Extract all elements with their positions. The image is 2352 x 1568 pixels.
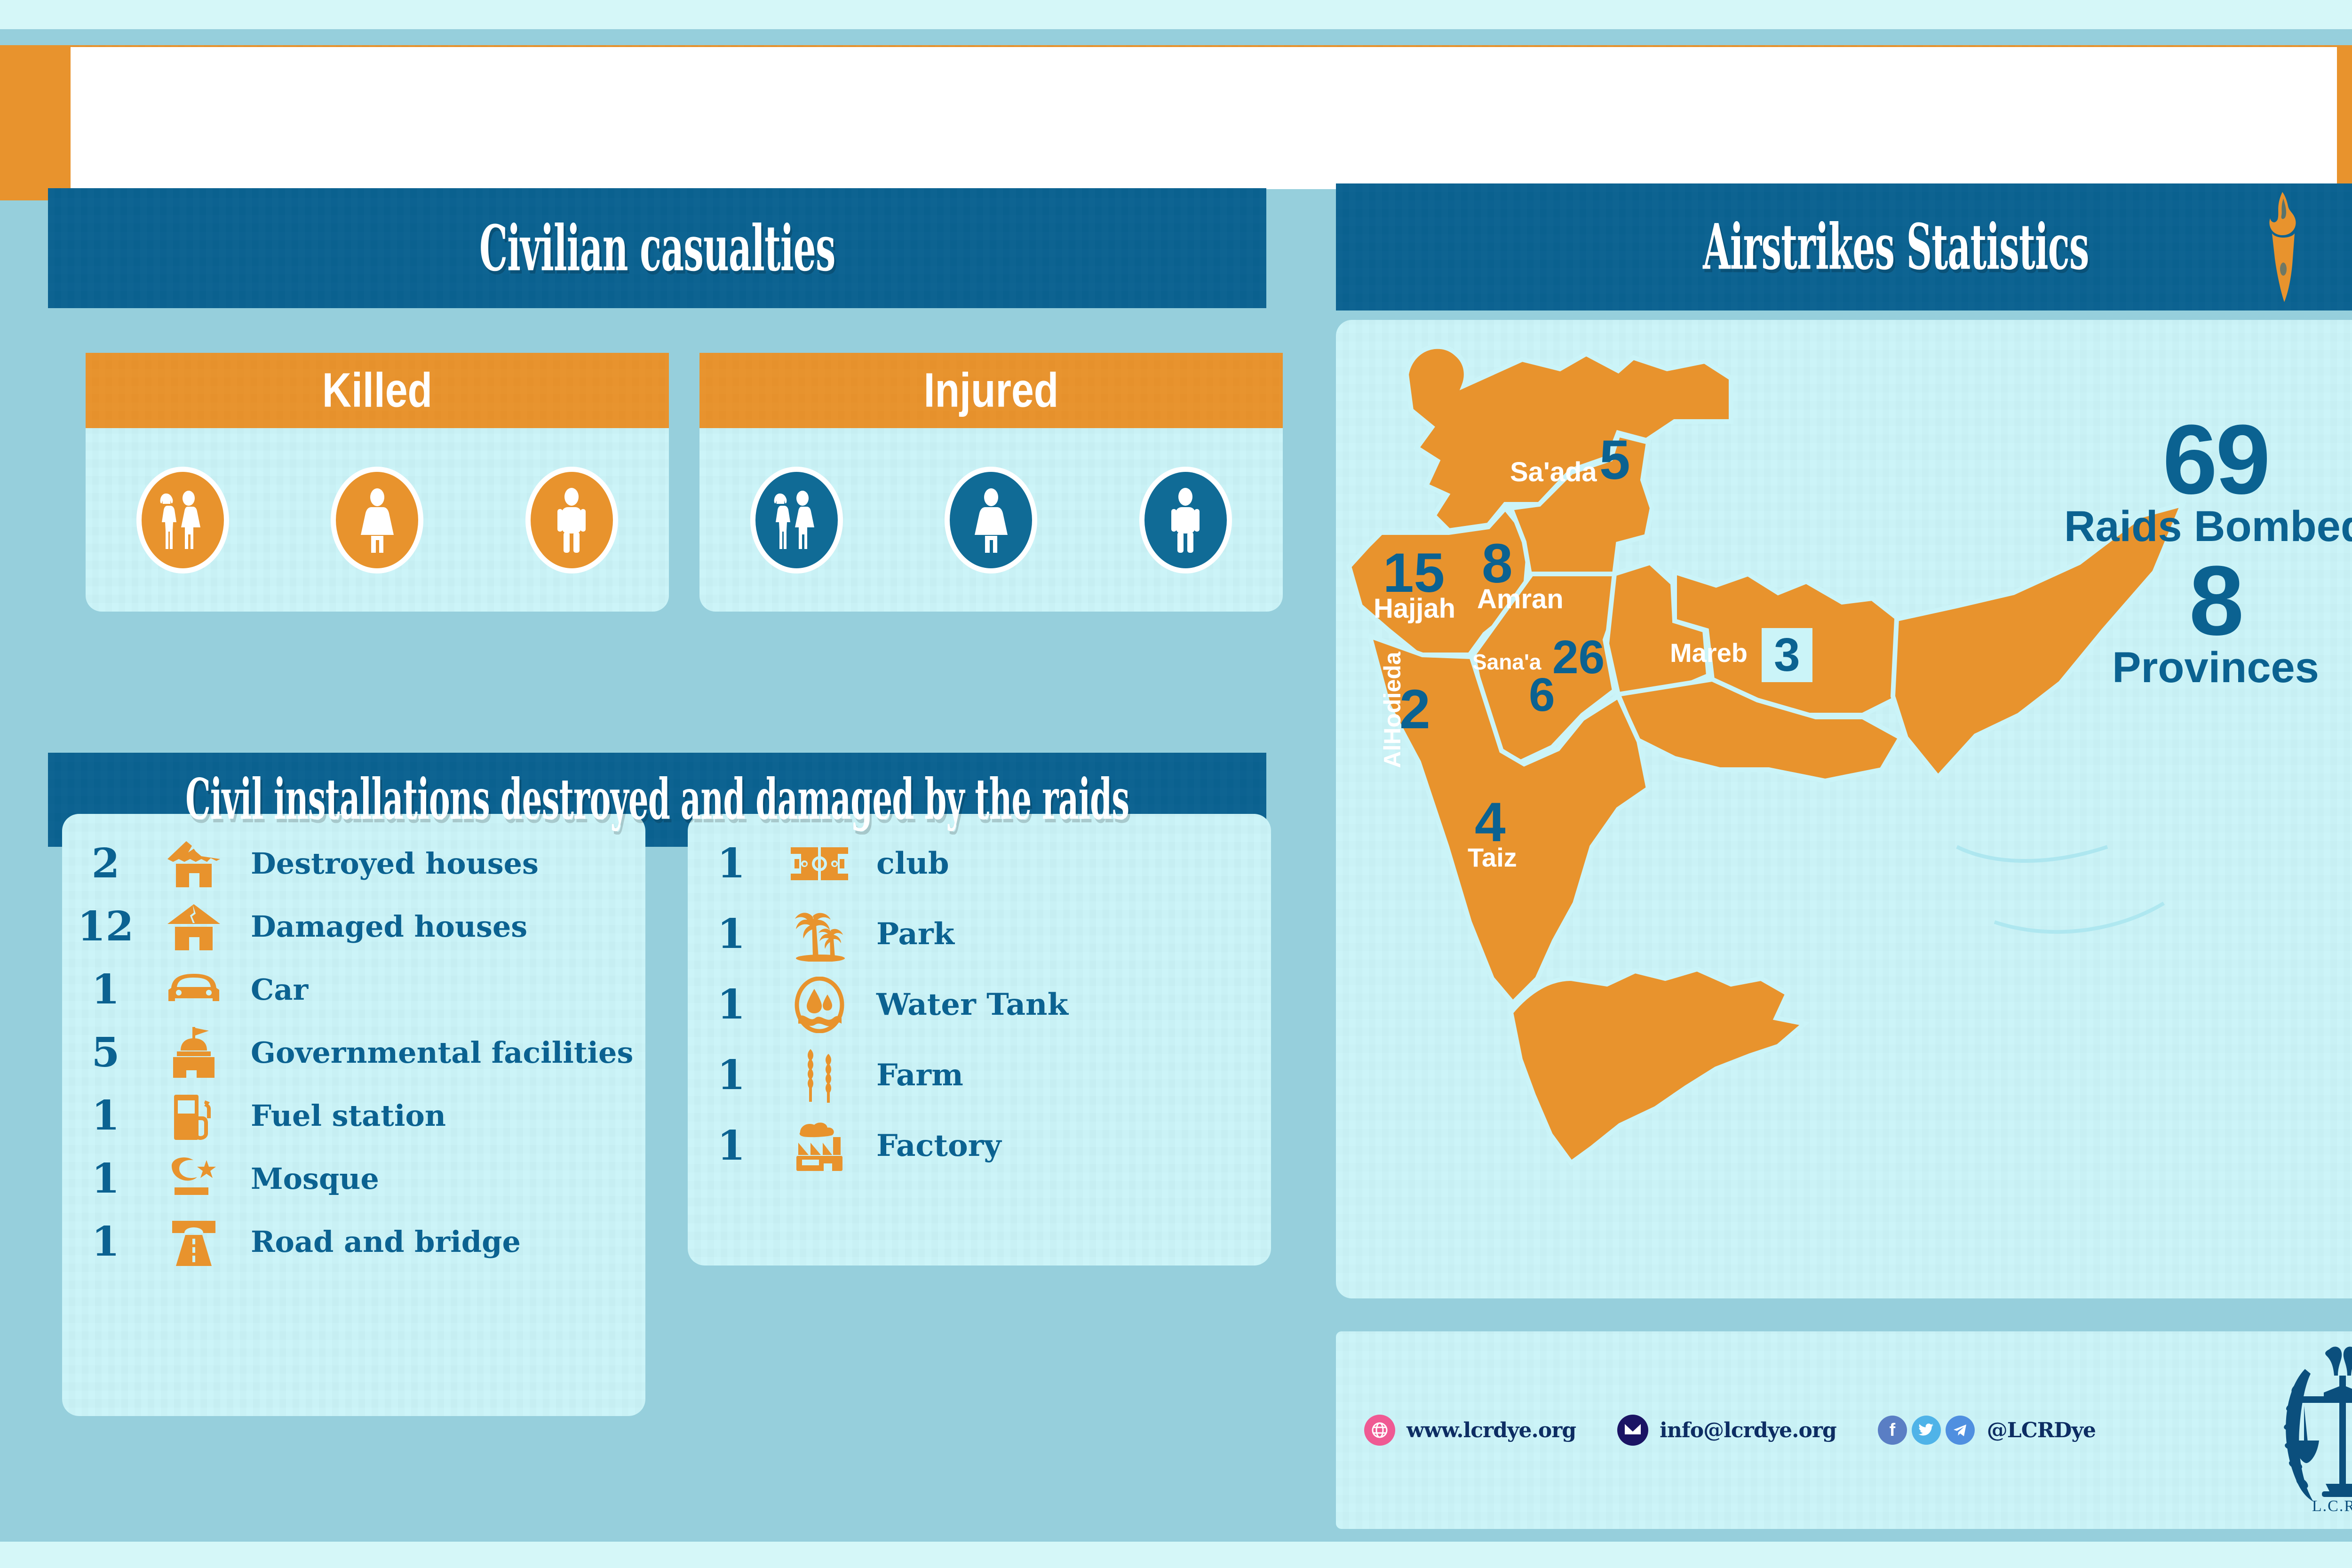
provinces-number: 8	[2037, 555, 2352, 646]
injured-icons	[699, 428, 1283, 612]
region-taiz	[1511, 969, 1804, 1163]
factory-icon	[775, 1116, 864, 1176]
woman-icon	[336, 472, 418, 568]
contact-footer: www.lcrdye.org info@lcrdye.org f	[1336, 1331, 2352, 1529]
children-pair-icon	[755, 472, 838, 568]
website-item[interactable]: www.lcrdye.org	[1364, 1415, 1576, 1446]
left-column: Civilian casualties Killed	[34, 188, 1266, 1543]
map-value-mareb: 3	[1762, 628, 1812, 682]
provinces-label: Provinces	[2037, 646, 2352, 689]
children-pair-icon	[142, 472, 224, 568]
map-value-amran: 8	[1482, 532, 1513, 596]
man-icon	[531, 472, 613, 568]
list-item: 1 Factory	[688, 1116, 1271, 1176]
raids-bombed-stat: 69 Raids Bombed	[2037, 414, 2352, 548]
car-icon	[149, 960, 238, 1020]
list-item: 5 Governmental facilities	[62, 1023, 645, 1083]
item-label: Water Tank	[864, 989, 1068, 1020]
list-item: 1	[688, 834, 1271, 894]
email-text: info@lcrdye.org	[1660, 1418, 1836, 1442]
social-item[interactable]: f @LCRDye	[1878, 1416, 2096, 1445]
item-label: Fuel station	[238, 1101, 446, 1130]
item-label: Road and bridge	[238, 1227, 521, 1257]
item-count: 1	[688, 844, 775, 884]
list-item: 1 Car	[62, 960, 645, 1020]
map-label-saada: Sa'ada	[1510, 456, 1597, 488]
wheat-farm-icon	[775, 1045, 864, 1106]
fuel-pump-icon	[149, 1086, 238, 1146]
item-label: Destroyed houses	[238, 849, 539, 878]
provinces-stat: 8 Provinces	[2037, 555, 2352, 689]
mosque-crescent-star-icon	[149, 1149, 238, 1209]
injured-card: Injured	[699, 353, 1283, 616]
killed-icons	[86, 428, 669, 612]
civilian-casualties-title: Civilian casualties	[479, 211, 835, 285]
item-count: 1	[688, 985, 775, 1025]
map-value-taiz: 4	[1475, 790, 1506, 854]
item-count: 1	[688, 914, 775, 955]
map-value-hajjah: 15	[1383, 541, 1445, 605]
item-count: 1	[62, 1096, 149, 1136]
list-item: 1 Road and bridge	[62, 1212, 645, 1272]
map-value-alhodieda: 2	[1399, 677, 1430, 741]
infographic-frame: Civilian casualties Killed	[0, 0, 2352, 1568]
lcrd-scales-of-justice-logo: L.C.R.D	[2249, 1336, 2352, 1524]
item-count: 1	[688, 1055, 775, 1096]
sports-field-icon	[775, 834, 864, 894]
item-label: Farm	[864, 1060, 963, 1090]
torch-flame-icon	[2253, 190, 2314, 303]
item-label: Mosque	[238, 1164, 379, 1194]
item-label: Governmental facilities	[238, 1038, 633, 1067]
facebook-icon[interactable]: f	[1878, 1416, 1907, 1445]
top-orange-left-edge	[0, 45, 71, 200]
killed-card: Killed	[86, 353, 669, 616]
airstrikes-statistics-header: Airstrikes Statistics	[1336, 183, 2352, 310]
map-value-saada: 5	[1599, 428, 1630, 492]
item-count: 12	[62, 907, 149, 947]
government-building-icon	[149, 1023, 238, 1083]
woman-icon	[950, 472, 1032, 568]
item-count: 2	[62, 844, 149, 884]
injured-label: Injured	[924, 363, 1059, 419]
list-item: 2 Destroyed houses	[62, 834, 645, 894]
logo-abbrev: L.C.R.D	[2312, 1497, 2352, 1515]
man-icon	[1144, 472, 1227, 568]
list-item: 1	[688, 1045, 1271, 1106]
map-value-sanaa: 26	[1552, 630, 1605, 685]
email-item[interactable]: info@lcrdye.org	[1617, 1415, 1836, 1446]
killed-title-bar: Killed	[86, 353, 669, 428]
list-item: 1 Fuel station	[62, 1086, 645, 1146]
injured-title-bar: Injured	[699, 353, 1283, 428]
killed-label: Killed	[322, 363, 432, 419]
item-label: Factory	[864, 1130, 1001, 1161]
list-item: 1 Park	[688, 904, 1271, 964]
installations-list-left: 2 Destroyed houses 12	[62, 814, 645, 1416]
item-count: 1	[688, 1126, 775, 1166]
destroyed-house-icon	[149, 834, 238, 894]
road-bridge-icon	[149, 1212, 238, 1272]
item-count: 1	[62, 1159, 149, 1199]
title-banner	[71, 47, 2337, 189]
item-label: club	[864, 848, 949, 879]
airstrikes-statistics-title: Airstrikes Statistics	[1703, 210, 2089, 284]
list-item: 12 Damaged houses	[62, 897, 645, 957]
water-tank-icon	[775, 975, 864, 1035]
item-label: Damaged houses	[238, 912, 527, 941]
map-label-mareb: Mareb	[1670, 637, 1748, 668]
map-value-dhamar: 6	[1529, 668, 1555, 722]
telegram-icon[interactable]	[1946, 1416, 1975, 1445]
right-column: Airstrikes Statistics	[1308, 183, 2352, 1543]
airstrikes-map-card: Sa'ada 5 Hajjah 15 Amran 8 Sana'a 26 6 M…	[1336, 320, 2352, 1298]
social-handle: @LCRDye	[1987, 1418, 2096, 1442]
item-count: 5	[62, 1033, 149, 1073]
list-item: 1 Mosque	[62, 1149, 645, 1209]
damaged-house-icon	[149, 897, 238, 957]
top-orange-right-edge	[2337, 45, 2352, 200]
raids-bombed-number: 69	[2037, 414, 2352, 505]
website-text: www.lcrdye.org	[1406, 1418, 1576, 1442]
item-label: Car	[238, 975, 308, 1004]
globe-icon	[1364, 1415, 1395, 1446]
item-count: 1	[62, 1222, 149, 1262]
installations-list-right: 1	[688, 814, 1271, 1266]
list-item: 1 Water Tank	[688, 975, 1271, 1035]
item-label: Park	[864, 919, 954, 949]
palm-trees-icon	[775, 904, 864, 964]
envelope-icon	[1617, 1415, 1648, 1446]
item-count: 1	[62, 970, 149, 1010]
twitter-icon[interactable]	[1912, 1416, 1941, 1445]
raids-bombed-label: Raids Bombed	[2037, 505, 2352, 548]
civilian-casualties-header: Civilian casualties	[48, 188, 1266, 308]
